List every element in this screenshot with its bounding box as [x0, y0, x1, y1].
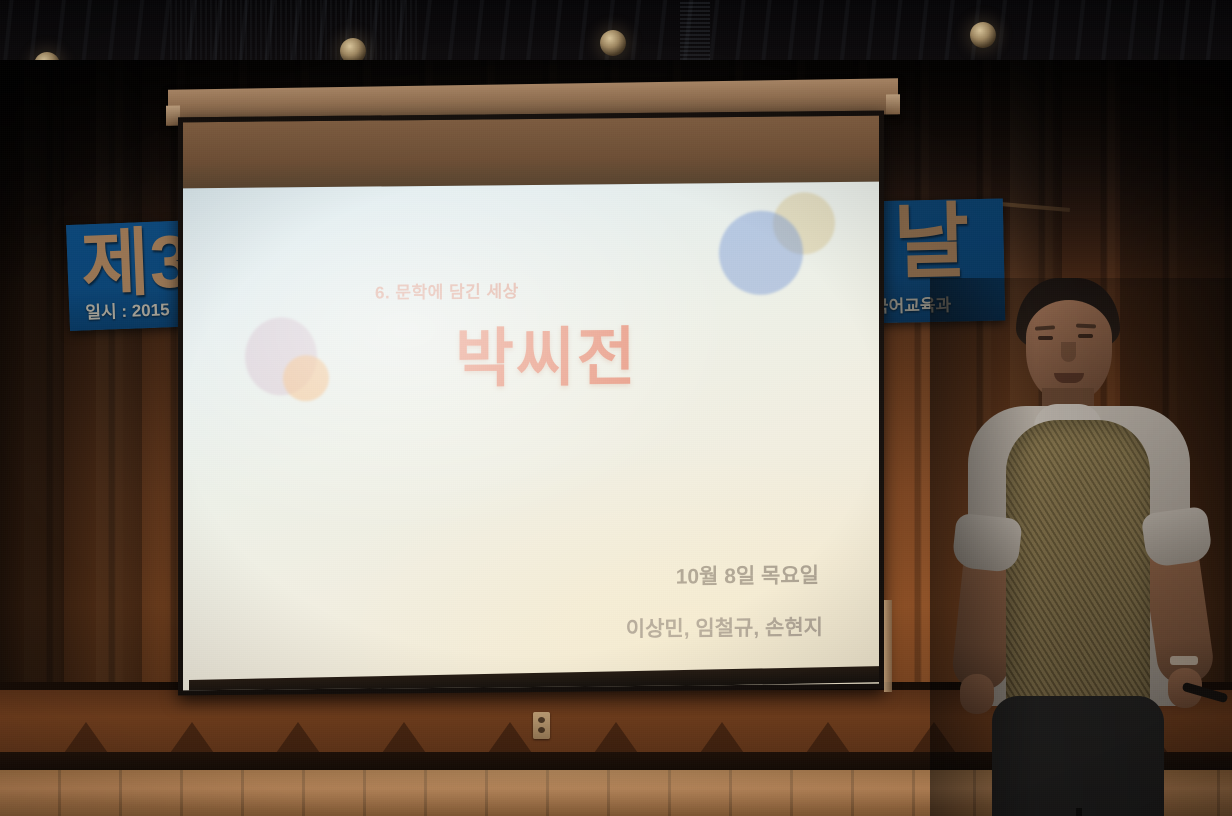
slide-title: 박씨전 [455, 322, 638, 394]
slide-date: 10월 8일 목요일 [676, 564, 819, 588]
screen-side-guide [884, 600, 892, 692]
presenter-hand-left [960, 674, 994, 714]
presenter-sleeve-right [1141, 506, 1214, 569]
presenter-knit-vest [1006, 420, 1150, 732]
casing-end-cap-right [886, 94, 900, 114]
presenter-nose [1061, 342, 1076, 362]
banner-right-headline: 날 [893, 201, 970, 285]
decorative-circle-blue [719, 210, 803, 295]
slide-subtitle: 6. 문학에 담긴 세상 [375, 283, 519, 303]
presenter-person [930, 278, 1232, 816]
presenter-leg-seam [1076, 808, 1082, 816]
presenter-eye-right [1078, 334, 1093, 338]
presenter-wristwatch [1170, 656, 1198, 665]
banner-left-subline: 일시 : 2015 [85, 295, 170, 323]
screen-unlit-margin [183, 116, 879, 189]
presentation-slide: 6. 문학에 담긴 세상 박씨전 10월 8일 목요일 이상민, 임철규, 손현… [183, 182, 879, 696]
spotlight-icon [600, 30, 626, 56]
spotlight-icon [970, 22, 996, 48]
decorative-circle-orange [283, 355, 329, 401]
presentation-room-scene: 제3 일시 : 2015 날 국어교육과 [0, 0, 1232, 816]
projector-screen-assembly: 6. 문학에 담긴 세상 박씨전 10월 8일 목요일 이상민, 임철규, 손현… [168, 84, 898, 702]
presenter-trousers [992, 696, 1164, 816]
projection-screen: 6. 문학에 담긴 세상 박씨전 10월 8일 목요일 이상민, 임철규, 손현… [178, 111, 884, 696]
power-outlet-icon [533, 712, 550, 739]
slide-authors: 이상민, 임철규, 손현지 [626, 616, 823, 641]
presenter-sleeve-left [951, 513, 1022, 574]
presenter-eye-left [1038, 336, 1053, 340]
